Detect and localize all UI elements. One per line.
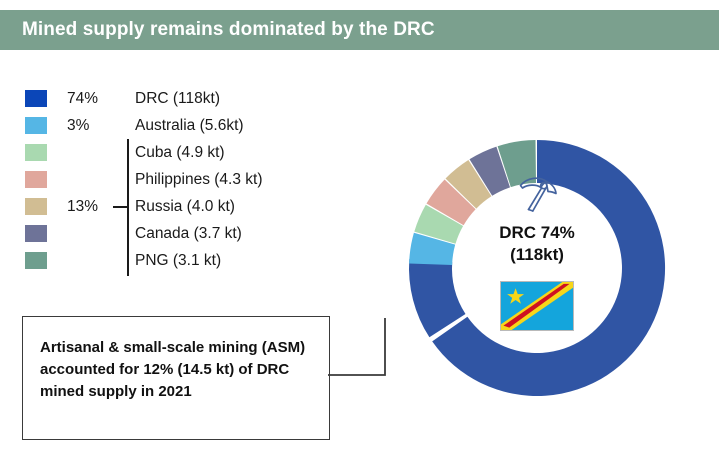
legend-swatch-cuba [25, 144, 47, 161]
asm-callout-box: Artisanal & small-scale mining (ASM) acc… [22, 316, 330, 440]
legend-item-drc: 74% DRC (118kt) [25, 85, 365, 112]
legend-percent-group: 13% [47, 198, 113, 216]
page-title: Mined supply remains dominated by the DR… [0, 19, 435, 41]
legend-item-png: PNG (3.1 kt) [25, 247, 365, 274]
asm-callout-text: Artisanal & small-scale mining (ASM) acc… [40, 337, 315, 402]
legend-percent-drc: 74% [47, 90, 113, 108]
legend-item-philippines: Philippines (4.3 kt) [25, 166, 365, 193]
legend-swatch-png [25, 252, 47, 269]
legend-label-philippines: Philippines (4.3 kt) [113, 171, 263, 189]
legend-swatch-australia [25, 117, 47, 134]
legend-label-png: PNG (3.1 kt) [113, 252, 221, 270]
legend-label-cuba: Cuba (4.9 kt) [113, 144, 225, 162]
legend-label-drc: DRC (118kt) [113, 90, 220, 108]
header-bar: Mined supply remains dominated by the DR… [0, 10, 719, 50]
legend-swatch-drc [25, 90, 47, 107]
legend-percent-australia: 3% [47, 117, 113, 135]
legend-item-canada: Canada (3.7 kt) [25, 220, 365, 247]
callout-connector-line [328, 318, 390, 380]
legend-item-australia: 3% Australia (5.6kt) [25, 112, 365, 139]
legend-swatch-philippines [25, 171, 47, 188]
legend-item-cuba: Cuba (4.9 kt) [25, 139, 365, 166]
legend-label-russia: Russia (4.0 kt) [113, 198, 235, 216]
legend-label-australia: Australia (5.6kt) [113, 117, 244, 135]
legend-item-russia: 13% Russia (4.0 kt) [25, 193, 365, 220]
donut-chart [395, 126, 679, 410]
chart-legend: 74% DRC (118kt) 3% Australia (5.6kt) Cub… [25, 85, 365, 274]
legend-swatch-canada [25, 225, 47, 242]
legend-label-canada: Canada (3.7 kt) [113, 225, 242, 243]
legend-swatch-russia [25, 198, 47, 215]
